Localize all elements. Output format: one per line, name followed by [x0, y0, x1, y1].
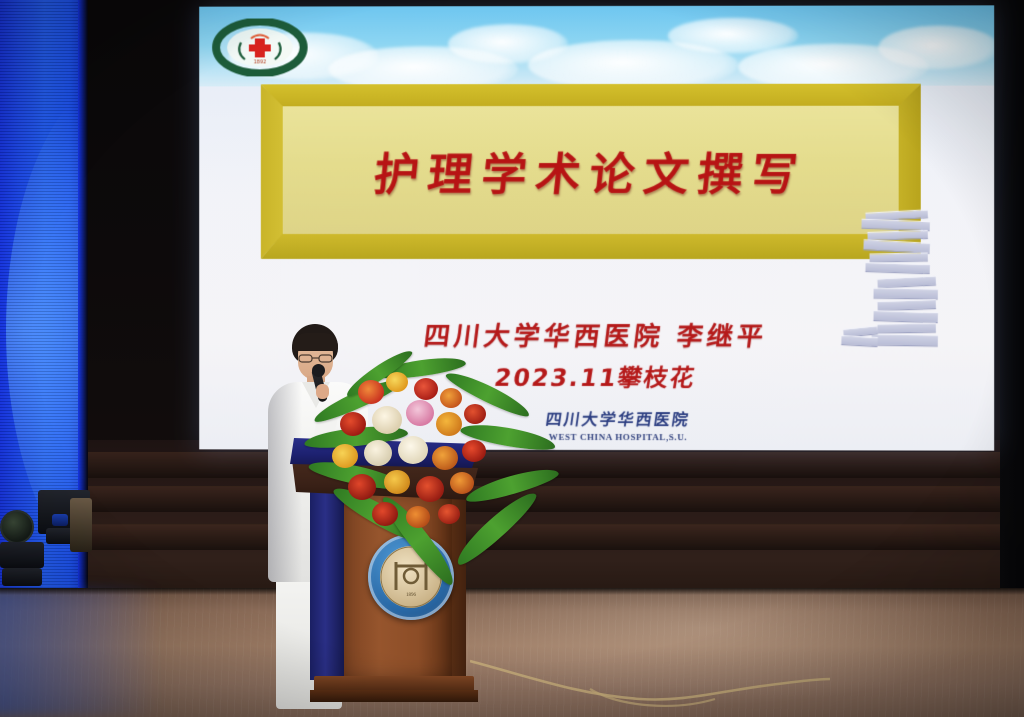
power-cable-on-floor [470, 655, 830, 713]
right-dark-panel [1000, 0, 1024, 600]
hospital-wordmark-cn: 四川大学华西医院 [526, 406, 709, 430]
hospital-wordmark-en: WEST CHINA HOSPITAL,S.U. [528, 432, 708, 442]
hospital-roundel-logo: 1892 [211, 18, 309, 76]
stage-lighting-fixtures [0, 476, 120, 596]
floral-arrangement [314, 358, 544, 573]
presenter-fringe [293, 333, 338, 351]
svg-text:1896: 1896 [406, 593, 417, 598]
hospital-wordmark: 四川大学华西医院 WEST CHINA HOSPITAL,S.U. [528, 406, 708, 442]
floor-blue-light-spill [0, 588, 190, 717]
floor-front-edge [0, 588, 1024, 595]
title-plaque: 护理学术论文撰写 [261, 84, 921, 259]
svg-text:1892: 1892 [254, 59, 267, 65]
lectern-plinth [310, 690, 478, 702]
stacked-papers-illustration [843, 211, 964, 356]
slide-title: 护理学术论文撰写 [371, 137, 810, 202]
stage-photo-scene: 1892 护理学术论文撰写 四川大学华西医院 李继平 2023.11攀枝花 四川… [0, 0, 1024, 717]
